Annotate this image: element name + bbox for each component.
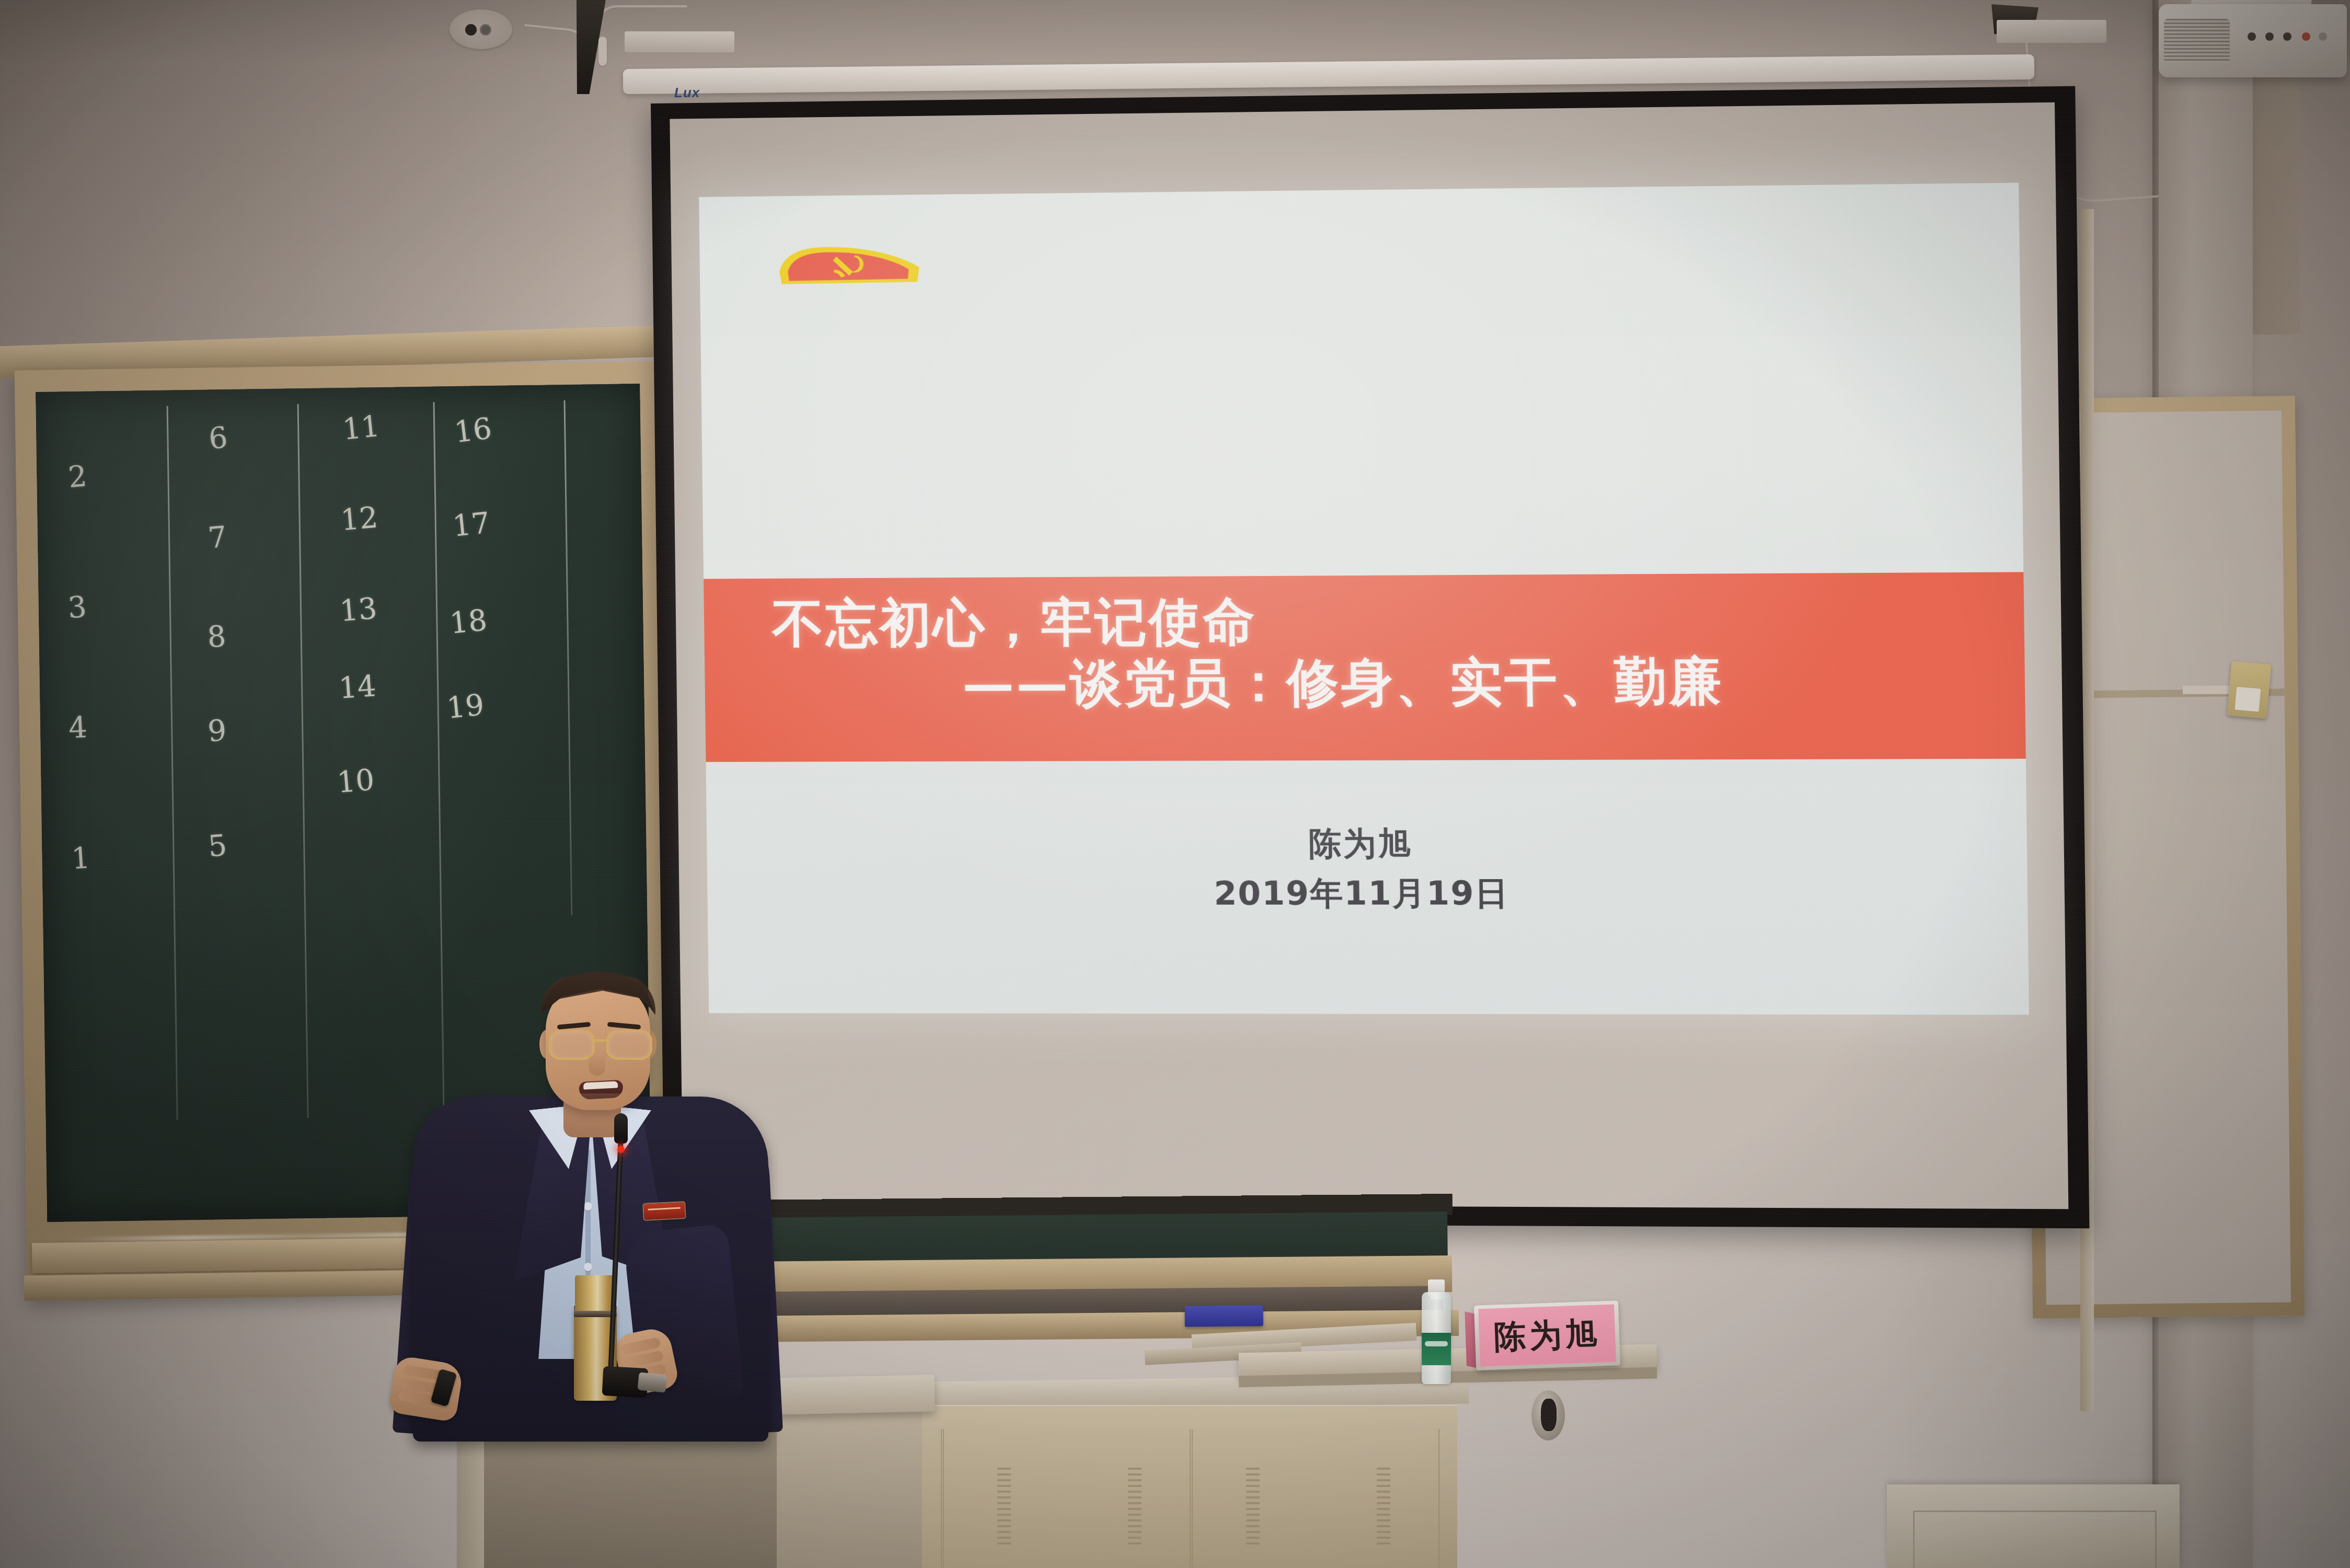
chalk-number: 12 — [339, 500, 379, 537]
nose — [589, 1052, 605, 1076]
cabinet-door[interactable] — [943, 1429, 1191, 1568]
ceiling-anchor-plate — [450, 9, 512, 49]
shirt-button — [584, 1202, 592, 1210]
lens-left — [549, 1030, 595, 1060]
projector-ports — [2248, 32, 2336, 55]
lecture-hall-photo: Lux — [0, 0, 2350, 1568]
chalk-number: 10 — [336, 763, 375, 800]
chalk-number: 6 — [207, 420, 229, 456]
shirt-button — [584, 1263, 592, 1271]
slide-title-line2: ——谈党员：修身、实干、勤廉 — [962, 649, 2001, 713]
chalk-number: 2 — [67, 459, 88, 494]
projection-screen[interactable]: 不忘初心，牢记使命 ——谈党员：修身、实干、勤廉 陈为旭 2019年11月19日 — [651, 86, 2089, 1229]
chalk-number: 3 — [67, 590, 88, 625]
chalk-number: 9 — [206, 713, 227, 748]
placard-card: 陈为旭 — [1478, 1304, 1616, 1366]
lens-right — [606, 1030, 652, 1060]
cabinet-vent — [1128, 1468, 1142, 1546]
party-badge-icon — [643, 1202, 685, 1220]
wall-switch-box[interactable] — [2227, 661, 2272, 719]
chalk-number: 7 — [206, 520, 228, 555]
chalk-number: 11 — [341, 409, 381, 446]
chalk-number: 5 — [207, 828, 228, 863]
placard-name-text: 陈为旭 — [1493, 1311, 1602, 1359]
bottle-label — [1422, 1333, 1451, 1365]
microphone-capsule — [614, 1113, 628, 1144]
chalk-number: 17 — [451, 505, 491, 543]
slide-title-block: 不忘初心，牢记使命 ——谈党员：修身、实干、勤廉 — [772, 587, 2001, 714]
chalk-number: 1 — [71, 840, 91, 875]
chalk-number: 19 — [445, 687, 486, 725]
chalk-number: 16 — [453, 411, 493, 449]
glasses-bridge — [591, 1039, 607, 1042]
chalk-number: 8 — [206, 619, 227, 654]
chalk-number: 4 — [68, 710, 88, 745]
projected-slide: 不忘初心，牢记使命 ——谈党员：修身、实干、勤廉 陈为旭 2019年11月19日 — [699, 183, 2029, 1015]
door-panel-inset — [1913, 1511, 2157, 1568]
slide-title-line1: 不忘初心，牢记使命 — [772, 587, 2001, 653]
chalk-number: 14 — [338, 668, 377, 705]
slide-author: 陈为旭 — [707, 821, 2028, 867]
party-flag-icon — [776, 240, 924, 290]
chalk-number: 13 — [338, 591, 378, 628]
screen-surface: 不忘初心，牢记使命 ——谈党员：修身、实干、勤廉 陈为旭 2019年11月19日 — [670, 102, 2068, 1209]
water-bottle[interactable] — [1422, 1274, 1451, 1384]
cabinet-vent — [997, 1468, 1011, 1546]
microphone-connector — [637, 1372, 667, 1392]
desk-cable-grommet — [1531, 1390, 1565, 1440]
thermos-cap — [575, 1275, 616, 1311]
slide-date: 2019年11月19日 — [707, 871, 2028, 916]
microphone[interactable] — [614, 1113, 628, 1385]
wall-conduit — [2183, 686, 2235, 694]
microphone-status-led — [617, 1146, 625, 1153]
screen-brand-label: Lux — [674, 85, 700, 101]
name-placard[interactable]: 陈为旭 — [1478, 1304, 1616, 1366]
chalk-number: 18 — [448, 603, 488, 640]
chalk-eraser-secondary[interactable] — [1185, 1305, 1263, 1327]
projector-vent-grille — [2164, 19, 2230, 63]
cable-clip — [598, 37, 607, 66]
screen-mount-left — [625, 31, 734, 52]
